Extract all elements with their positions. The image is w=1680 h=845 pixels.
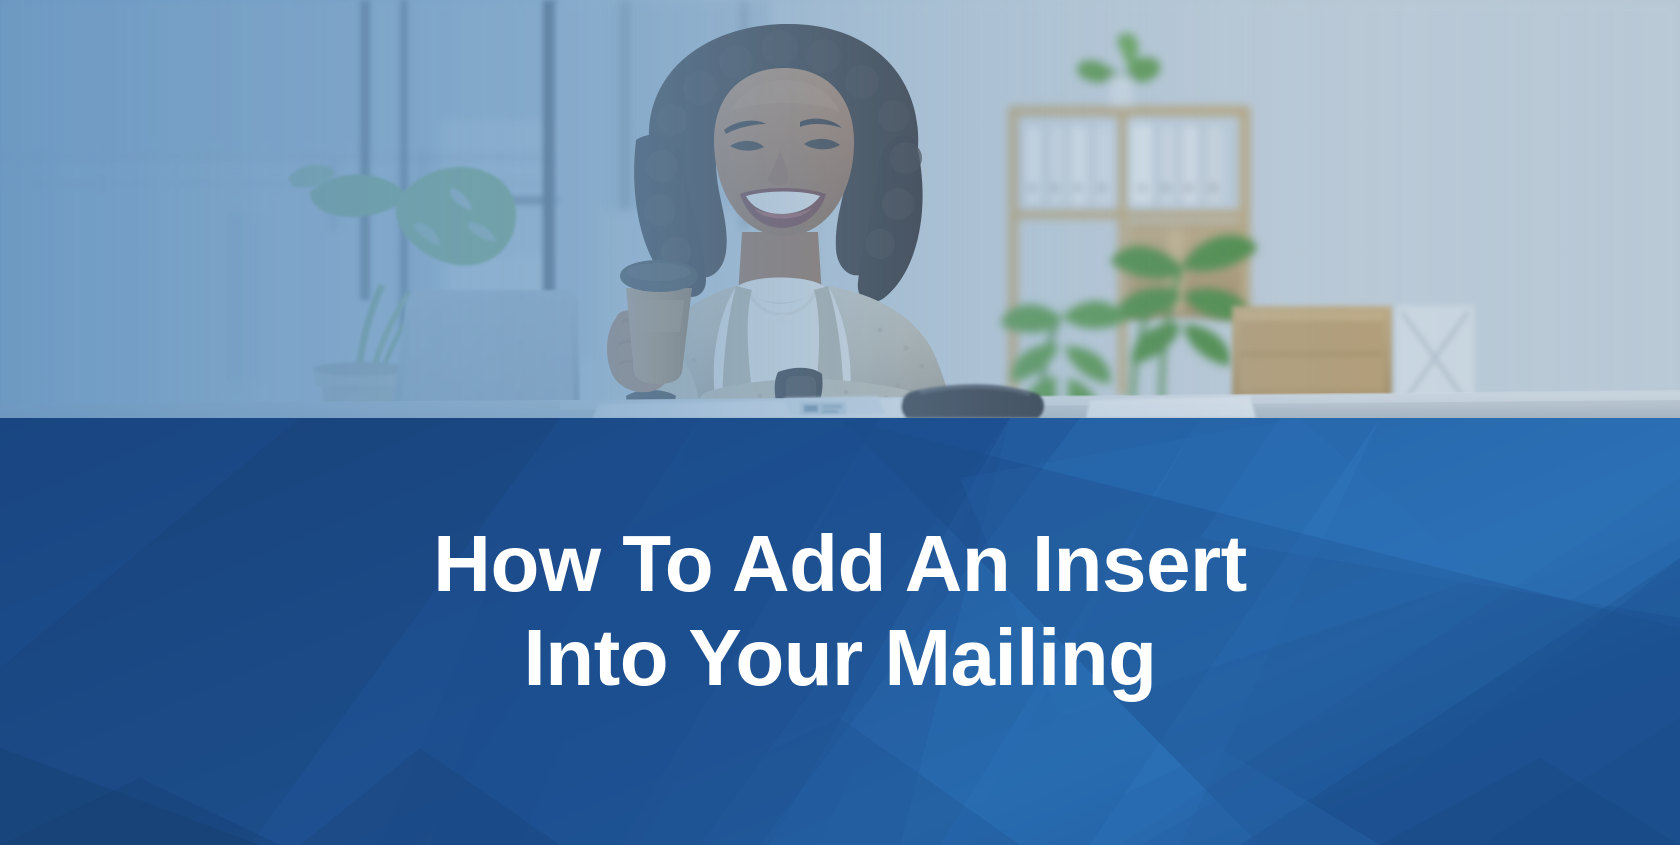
title-banner: How To Add An Insert Into Your Mailing [0, 418, 1680, 845]
banner-title-block: How To Add An Insert Into Your Mailing [0, 418, 1680, 845]
banner-title-line-2: Into Your Mailing [524, 611, 1157, 705]
banner-title-line-1: How To Add An Insert [433, 517, 1247, 611]
hero-photo [0, 0, 1680, 418]
office-scene-illustration [0, 0, 1680, 418]
blog-hero-banner: How To Add An Insert Into Your Mailing [0, 0, 1680, 845]
